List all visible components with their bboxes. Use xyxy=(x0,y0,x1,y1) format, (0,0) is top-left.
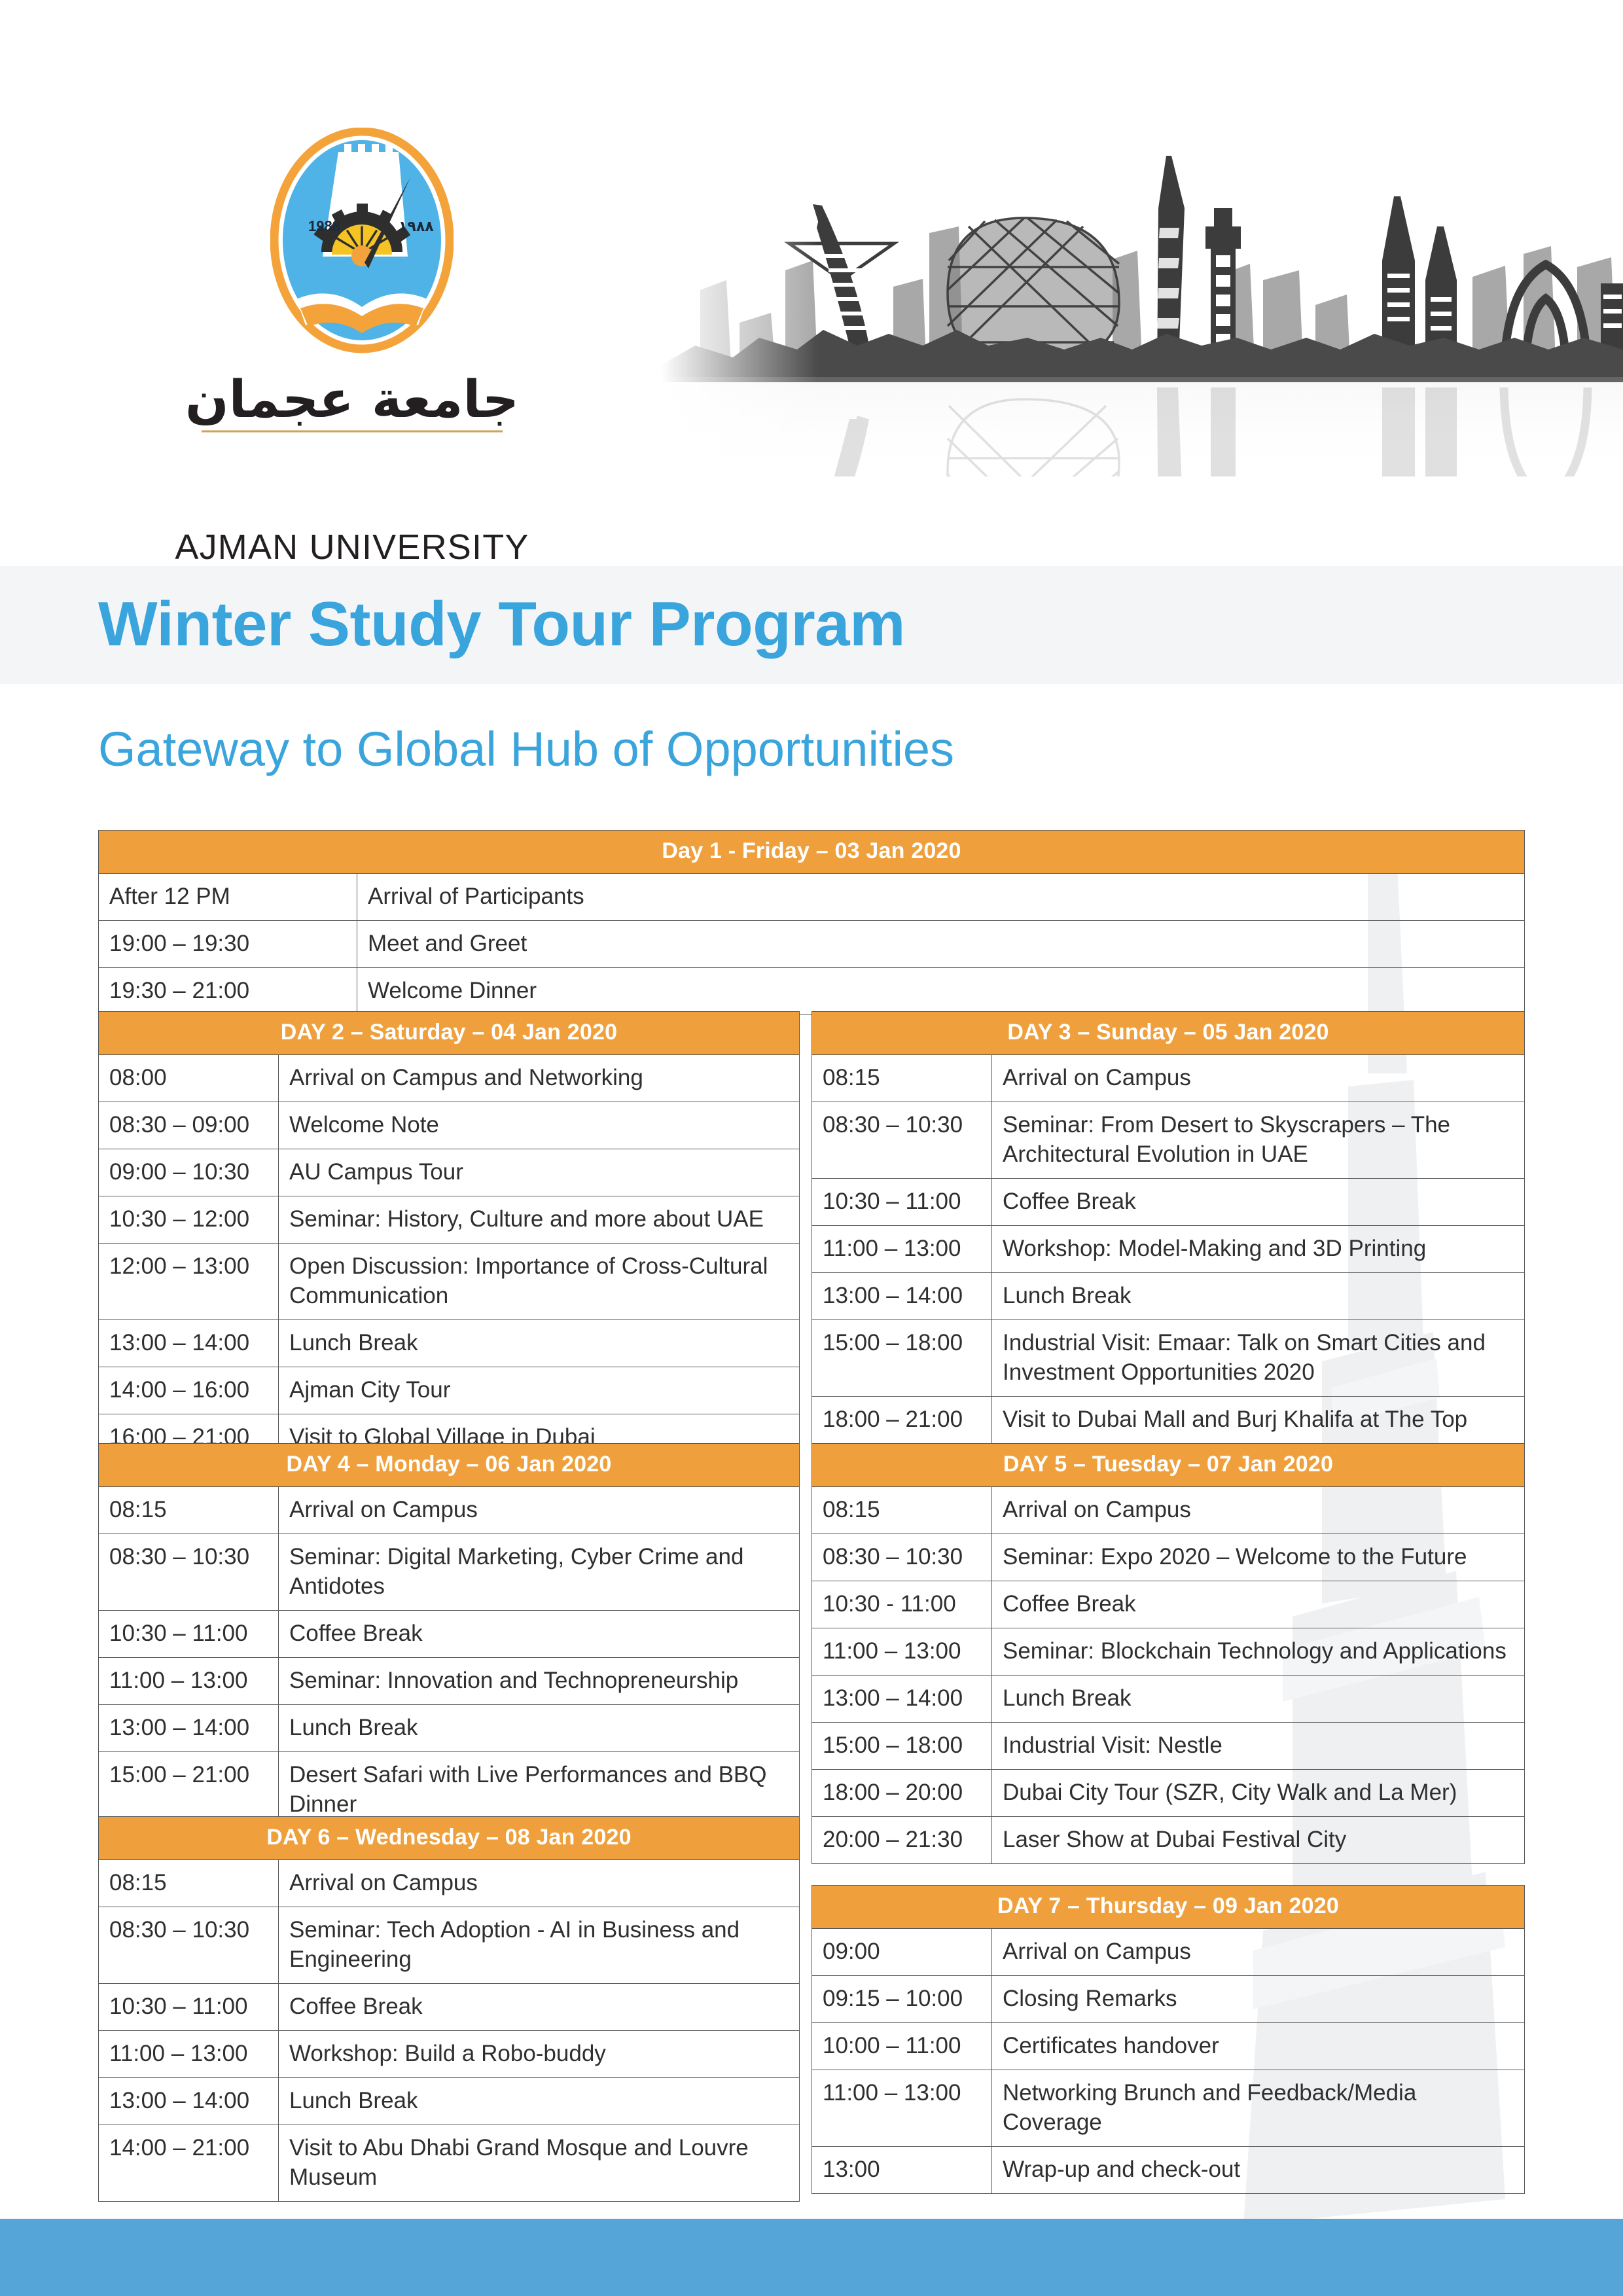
day1-header: Day 1 - Friday – 03 Jan 2020 xyxy=(99,831,1525,874)
day3-header: DAY 3 – Sunday – 05 Jan 2020 xyxy=(812,1012,1525,1055)
row-time: 15:00 – 18:00 xyxy=(812,1723,992,1770)
row-time: 13:00 – 14:00 xyxy=(99,2078,279,2125)
table-row: 20:00 – 21:30Laser Show at Dubai Festiva… xyxy=(812,1817,1525,1864)
row-activity: Seminar: Digital Marketing, Cyber Crime … xyxy=(279,1534,800,1611)
row-activity: Seminar: Tech Adoption - AI in Business … xyxy=(279,1907,800,1984)
table-row: 09:00 – 10:30AU Campus Tour xyxy=(99,1149,800,1196)
row-activity: Arrival on Campus xyxy=(992,1929,1525,1976)
row-time: 08:30 – 10:30 xyxy=(812,1534,992,1581)
day6-rows: 08:15Arrival on Campus 08:30 – 10:30Semi… xyxy=(99,1860,800,2202)
row-time: After 12 PM xyxy=(99,874,357,921)
row-time: 10:30 – 11:00 xyxy=(99,1984,279,2031)
day4-container: DAY 4 – Monday – 06 Jan 2020 08:15Arriva… xyxy=(98,1443,800,1829)
table-row: 08:30 – 10:30Seminar: Expo 2020 – Welcom… xyxy=(812,1534,1525,1581)
row-time: 12:00 – 13:00 xyxy=(99,1244,279,1320)
table-row: 09:15 – 10:00Closing Remarks xyxy=(812,1976,1525,2023)
row-time: 10:00 – 11:00 xyxy=(812,2023,992,2070)
table-row: 15:00 – 18:00Industrial Visit: Emaar: Ta… xyxy=(812,1320,1525,1397)
table-row: 09:00Arrival on Campus xyxy=(812,1929,1525,1976)
schedule-table-day1: Day 1 - Friday – 03 Jan 2020 After 12 PM… xyxy=(98,830,1525,1015)
table-row: 14:00 – 16:00Ajman City Tour xyxy=(99,1367,800,1414)
row-time: 08:15 xyxy=(99,1860,279,1907)
day7-rows: 09:00Arrival on Campus 09:15 – 10:00Clos… xyxy=(812,1929,1525,2194)
schedule-table-day3: DAY 3 – Sunday – 05 Jan 2020 08:15Arriva… xyxy=(811,1011,1525,1444)
table-row: 13:00 – 14:00Lunch Break xyxy=(99,1705,800,1752)
row-activity: Laser Show at Dubai Festival City xyxy=(992,1817,1525,1864)
row-time: 08:30 – 09:00 xyxy=(99,1102,279,1149)
day7-header: DAY 7 – Thursday – 09 Jan 2020 xyxy=(812,1886,1525,1929)
table-row: 08:15Arrival on Campus xyxy=(99,1487,800,1534)
row-activity: Seminar: From Desert to Skyscrapers – Th… xyxy=(992,1102,1525,1179)
row-activity: Seminar: History, Culture and more about… xyxy=(279,1196,800,1244)
table-row: 14:00 – 21:00Visit to Abu Dhabi Grand Mo… xyxy=(99,2125,800,2202)
row-activity: Coffee Break xyxy=(279,1984,800,2031)
row-activity: Lunch Break xyxy=(992,1273,1525,1320)
row-time: 10:30 - 11:00 xyxy=(812,1581,992,1628)
row-time: 08:15 xyxy=(812,1055,992,1102)
row-time: 14:00 – 16:00 xyxy=(99,1367,279,1414)
day1-rows: After 12 PMArrival of Participants 19:00… xyxy=(99,874,1525,1015)
row-time: 10:30 – 11:00 xyxy=(99,1611,279,1658)
row-time: 13:00 xyxy=(812,2147,992,2194)
row-activity: Networking Brunch and Feedback/Media Cov… xyxy=(992,2070,1525,2147)
table-row: 08:15Arrival on Campus xyxy=(812,1055,1525,1102)
table-row: 11:00 – 13:00Seminar: Blockchain Technol… xyxy=(812,1628,1525,1676)
day6-header: DAY 6 – Wednesday – 08 Jan 2020 xyxy=(99,1817,800,1860)
day7-container: DAY 7 – Thursday – 09 Jan 2020 09:00Arri… xyxy=(811,1885,1525,2194)
row-time: 09:00 xyxy=(812,1929,992,1976)
table-row: 10:30 – 12:00Seminar: History, Culture a… xyxy=(99,1196,800,1244)
table-row: 12:00 – 13:00Open Discussion: Importance… xyxy=(99,1244,800,1320)
table-row: After 12 PMArrival of Participants xyxy=(99,874,1525,921)
row-activity: Lunch Break xyxy=(992,1676,1525,1723)
row-time: 09:00 – 10:30 xyxy=(99,1149,279,1196)
row-activity: Arrival of Participants xyxy=(357,874,1525,921)
row-time: 10:30 – 11:00 xyxy=(812,1179,992,1226)
row-time: 08:30 – 10:30 xyxy=(812,1102,992,1179)
table-row: 10:30 – 11:00Coffee Break xyxy=(99,1984,800,2031)
row-time: 18:00 – 20:00 xyxy=(812,1770,992,1817)
row-time: 15:00 – 18:00 xyxy=(812,1320,992,1397)
table-row: 10:30 – 11:00Coffee Break xyxy=(99,1611,800,1658)
table-row: 13:00 – 14:00Lunch Break xyxy=(812,1273,1525,1320)
row-time: 18:00 – 21:00 xyxy=(812,1397,992,1444)
table-row: 08:30 – 10:30Seminar: From Desert to Sky… xyxy=(812,1102,1525,1179)
row-activity: Visit to Abu Dhabi Grand Mosque and Louv… xyxy=(279,2125,800,2202)
table-row: 11:00 – 13:00Workshop: Build a Robo-budd… xyxy=(99,2031,800,2078)
row-time: 10:30 – 12:00 xyxy=(99,1196,279,1244)
row-activity: Arrival on Campus xyxy=(279,1487,800,1534)
schedule-sheet: Day 1 - Friday – 03 Jan 2020 After 12 PM… xyxy=(0,0,1623,2296)
day3-rows: 08:15Arrival on Campus 08:30 – 10:30Semi… xyxy=(812,1055,1525,1444)
row-activity: Arrival on Campus and Networking xyxy=(279,1055,800,1102)
row-time: 11:00 – 13:00 xyxy=(812,1628,992,1676)
row-time: 08:15 xyxy=(812,1487,992,1534)
row-activity: Welcome Dinner xyxy=(357,968,1525,1015)
day5-header: DAY 5 – Tuesday – 07 Jan 2020 xyxy=(812,1444,1525,1487)
table-row: 13:00Wrap-up and check-out xyxy=(812,2147,1525,2194)
row-activity: Welcome Note xyxy=(279,1102,800,1149)
row-activity: Certificates handover xyxy=(992,2023,1525,2070)
table-row: 10:30 – 11:00Coffee Break xyxy=(812,1179,1525,1226)
row-activity: Industrial Visit: Emaar: Talk on Smart C… xyxy=(992,1320,1525,1397)
table-row: 11:00 – 13:00Networking Brunch and Feedb… xyxy=(812,2070,1525,2147)
table-row: 10:00 – 11:00Certificates handover xyxy=(812,2023,1525,2070)
row-activity: Lunch Break xyxy=(279,1705,800,1752)
row-time: 20:00 – 21:30 xyxy=(812,1817,992,1864)
row-activity: Closing Remarks xyxy=(992,1976,1525,2023)
row-time: 08:15 xyxy=(99,1487,279,1534)
row-time: 13:00 – 14:00 xyxy=(99,1705,279,1752)
row-time: 13:00 – 14:00 xyxy=(99,1320,279,1367)
table-row: 08:15Arrival on Campus xyxy=(812,1487,1525,1534)
table-row: 19:00 – 19:30Meet and Greet xyxy=(99,921,1525,968)
table-row: 10:30 - 11:00Coffee Break xyxy=(812,1581,1525,1628)
row-activity: Workshop: Build a Robo-buddy xyxy=(279,2031,800,2078)
day5-rows: 08:15Arrival on Campus 08:30 – 10:30Semi… xyxy=(812,1487,1525,1864)
row-activity: Ajman City Tour xyxy=(279,1367,800,1414)
day2-container: DAY 2 – Saturday – 04 Jan 2020 08:00Arri… xyxy=(98,1011,800,1462)
row-activity: Lunch Break xyxy=(279,2078,800,2125)
row-activity: Coffee Break xyxy=(992,1581,1525,1628)
row-activity: Seminar: Innovation and Technopreneurshi… xyxy=(279,1658,800,1705)
table-row: 08:15Arrival on Campus xyxy=(99,1860,800,1907)
row-activity: Arrival on Campus xyxy=(279,1860,800,1907)
schedule-table-day6: DAY 6 – Wednesday – 08 Jan 2020 08:15Arr… xyxy=(98,1816,800,2202)
row-activity: Wrap-up and check-out xyxy=(992,2147,1525,2194)
table-row: 15:00 – 18:00Industrial Visit: Nestle xyxy=(812,1723,1525,1770)
schedule-table-day5: DAY 5 – Tuesday – 07 Jan 2020 08:15Arriv… xyxy=(811,1443,1525,1864)
row-time: 08:00 xyxy=(99,1055,279,1102)
row-activity: Open Discussion: Importance of Cross-Cul… xyxy=(279,1244,800,1320)
row-time: 19:00 – 19:30 xyxy=(99,921,357,968)
day2-header: DAY 2 – Saturday – 04 Jan 2020 xyxy=(99,1012,800,1055)
table-row: 13:00 – 14:00Lunch Break xyxy=(99,1320,800,1367)
table-row: 08:30 – 10:30Seminar: Tech Adoption - AI… xyxy=(99,1907,800,1984)
day4-rows: 08:15Arrival on Campus 08:30 – 10:30Semi… xyxy=(99,1487,800,1829)
row-time: 08:30 – 10:30 xyxy=(99,1534,279,1611)
row-time: 08:30 – 10:30 xyxy=(99,1907,279,1984)
footer-bar xyxy=(0,2219,1623,2296)
table-row: 18:00 – 20:00Dubai City Tour (SZR, City … xyxy=(812,1770,1525,1817)
row-activity: Industrial Visit: Nestle xyxy=(992,1723,1525,1770)
day5-container: DAY 5 – Tuesday – 07 Jan 2020 08:15Arriv… xyxy=(811,1443,1525,1864)
row-activity: AU Campus Tour xyxy=(279,1149,800,1196)
day3-container: DAY 3 – Sunday – 05 Jan 2020 08:15Arriva… xyxy=(811,1011,1525,1444)
row-activity: Seminar: Blockchain Technology and Appli… xyxy=(992,1628,1525,1676)
row-time: 11:00 – 13:00 xyxy=(812,1226,992,1273)
row-time: 11:00 – 13:00 xyxy=(99,2031,279,2078)
row-activity: Workshop: Model-Making and 3D Printing xyxy=(992,1226,1525,1273)
table-row: 19:30 – 21:00Welcome Dinner xyxy=(99,968,1525,1015)
row-time: 11:00 – 13:00 xyxy=(99,1658,279,1705)
schedule-table-day7: DAY 7 – Thursday – 09 Jan 2020 09:00Arri… xyxy=(811,1885,1525,2194)
table-row: 11:00 – 13:00Seminar: Innovation and Tec… xyxy=(99,1658,800,1705)
day6-container: DAY 6 – Wednesday – 08 Jan 2020 08:15Arr… xyxy=(98,1816,800,2202)
table-row: 13:00 – 14:00Lunch Break xyxy=(99,2078,800,2125)
day2-rows: 08:00Arrival on Campus and Networking 08… xyxy=(99,1055,800,1462)
day4-header: DAY 4 – Monday – 06 Jan 2020 xyxy=(99,1444,800,1487)
table-row: 11:00 – 13:00Workshop: Model-Making and … xyxy=(812,1226,1525,1273)
row-time: 19:30 – 21:00 xyxy=(99,968,357,1015)
row-activity: Coffee Break xyxy=(992,1179,1525,1226)
row-activity: Coffee Break xyxy=(279,1611,800,1658)
row-time: 09:15 – 10:00 xyxy=(812,1976,992,2023)
table-row: 08:30 – 10:30Seminar: Digital Marketing,… xyxy=(99,1534,800,1611)
row-time: 13:00 – 14:00 xyxy=(812,1273,992,1320)
schedule-table-day2: DAY 2 – Saturday – 04 Jan 2020 08:00Arri… xyxy=(98,1011,800,1462)
row-activity: Meet and Greet xyxy=(357,921,1525,968)
table-row: 18:00 – 21:00Visit to Dubai Mall and Bur… xyxy=(812,1397,1525,1444)
row-time: 13:00 – 14:00 xyxy=(812,1676,992,1723)
schedule-table-day4: DAY 4 – Monday – 06 Jan 2020 08:15Arriva… xyxy=(98,1443,800,1829)
row-activity: Lunch Break xyxy=(279,1320,800,1367)
row-time: 14:00 – 21:00 xyxy=(99,2125,279,2202)
row-activity: Arrival on Campus xyxy=(992,1487,1525,1534)
row-activity: Seminar: Expo 2020 – Welcome to the Futu… xyxy=(992,1534,1525,1581)
table-row: 13:00 – 14:00Lunch Break xyxy=(812,1676,1525,1723)
row-time: 11:00 – 13:00 xyxy=(812,2070,992,2147)
table-row: 08:30 – 09:00Welcome Note xyxy=(99,1102,800,1149)
row-activity: Visit to Dubai Mall and Burj Khalifa at … xyxy=(992,1397,1525,1444)
row-activity: Arrival on Campus xyxy=(992,1055,1525,1102)
row-activity: Dubai City Tour (SZR, City Walk and La M… xyxy=(992,1770,1525,1817)
table-row: 08:00Arrival on Campus and Networking xyxy=(99,1055,800,1102)
